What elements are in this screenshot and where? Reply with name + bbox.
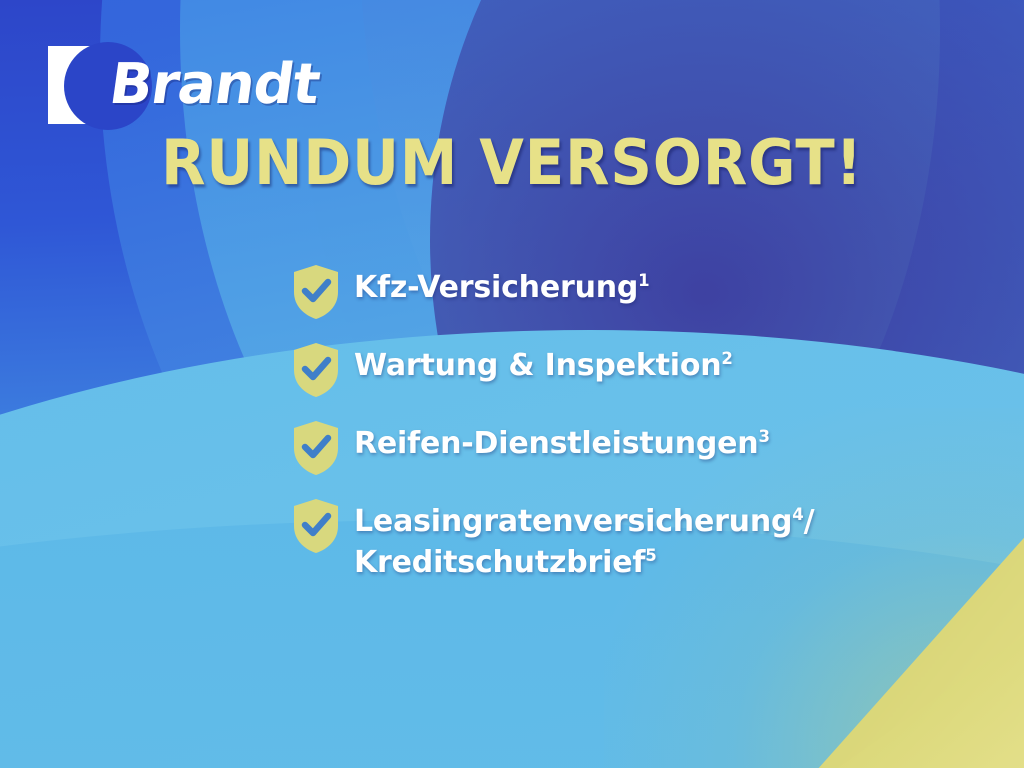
list-item: Leasingratenversicherung4/Kreditschutzbr… bbox=[292, 502, 992, 584]
list-item: Wartung & Inspektion2 bbox=[292, 346, 992, 398]
shield-check-icon bbox=[292, 420, 340, 476]
promo-banner: Brandt RUNDUM VERSORGT! Kfz-Versicherung… bbox=[0, 0, 1024, 768]
brandt-crescent-logomark-icon bbox=[48, 46, 96, 124]
list-item-label: Wartung & Inspektion2 bbox=[354, 346, 733, 387]
page-title: RUNDUM VERSORGT! bbox=[36, 132, 988, 194]
list-item: Reifen-Dienstleistungen3 bbox=[292, 424, 992, 476]
list-item-label: Reifen-Dienstleistungen3 bbox=[354, 424, 770, 465]
benefits-list: Kfz-Versicherung1 Wartung & Inspektion2 … bbox=[292, 268, 992, 584]
wedge-yellow-shape-2 bbox=[824, 628, 1024, 768]
shield-check-icon bbox=[292, 264, 340, 320]
shield-check-icon bbox=[292, 342, 340, 398]
list-item-label: Kfz-Versicherung1 bbox=[354, 268, 649, 309]
brand-name: Brandt bbox=[106, 57, 323, 113]
brand-logo: Brandt bbox=[48, 46, 319, 124]
list-item-label: Leasingratenversicherung4/Kreditschutzbr… bbox=[354, 502, 814, 584]
list-item: Kfz-Versicherung1 bbox=[292, 268, 992, 320]
shield-check-icon bbox=[292, 498, 340, 554]
